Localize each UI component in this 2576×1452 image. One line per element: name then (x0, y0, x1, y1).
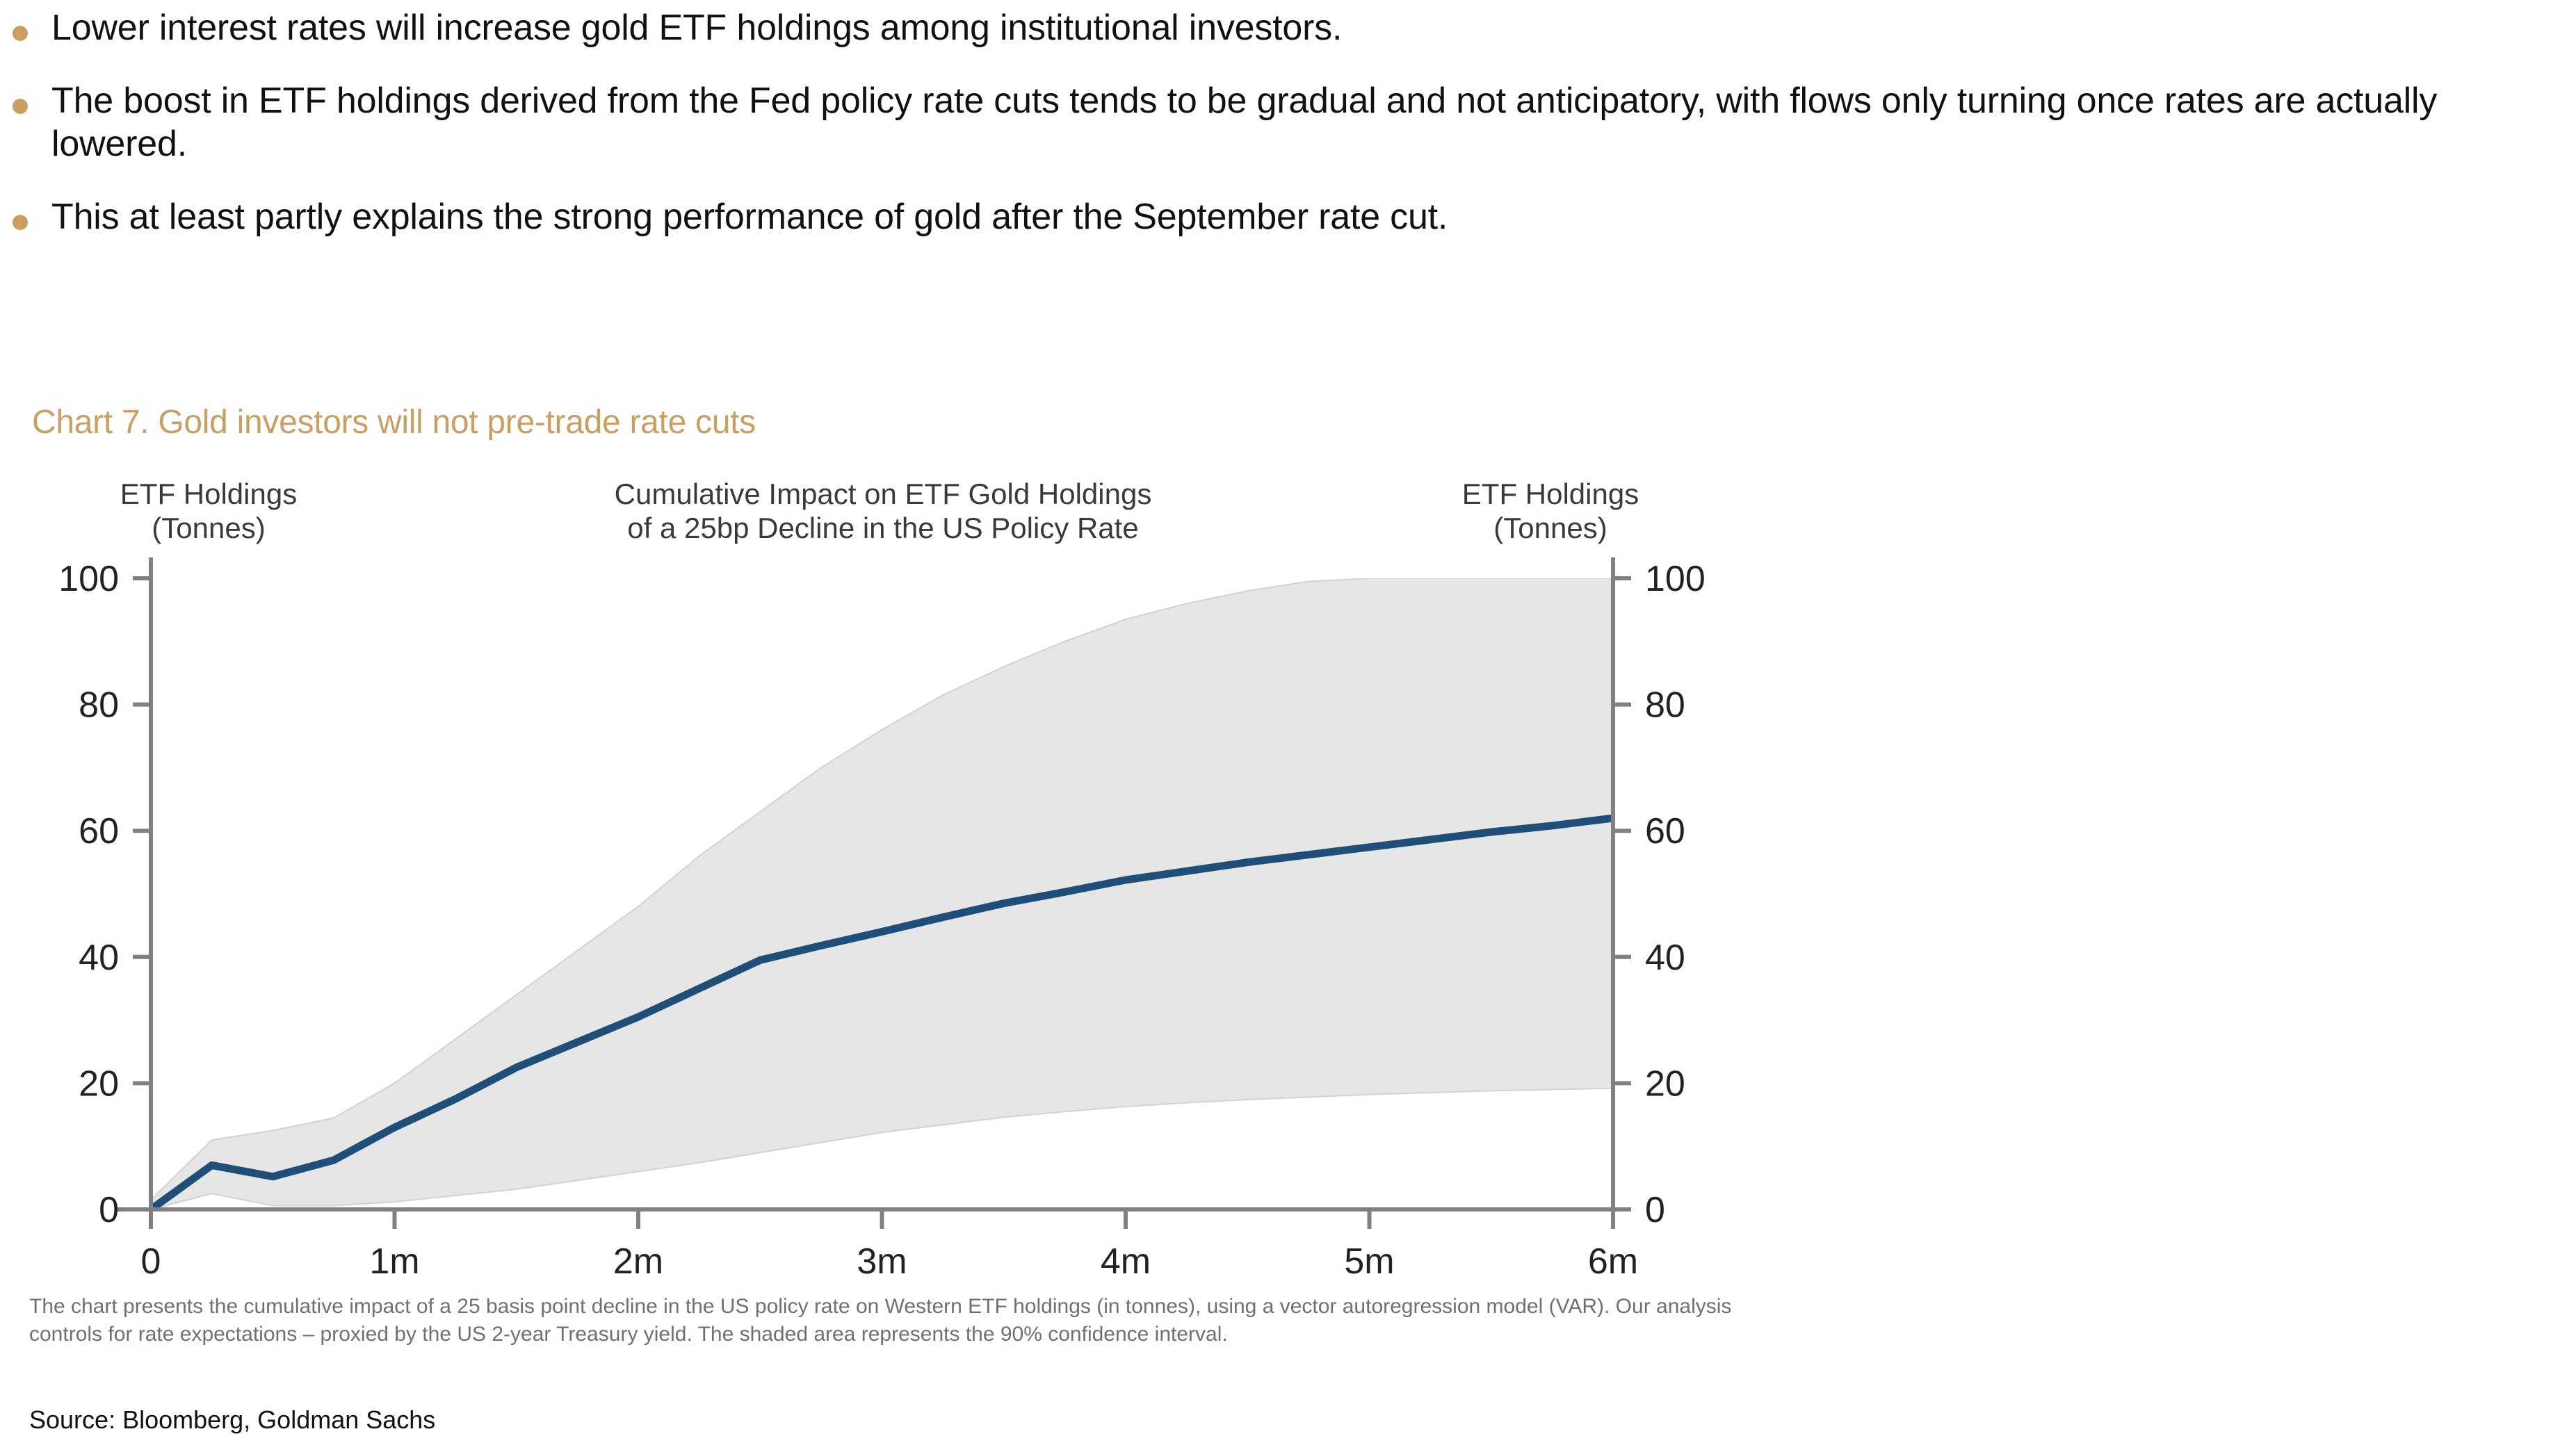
bullet-dot-icon (13, 215, 28, 230)
y-axis-tick-label: 60 (79, 811, 119, 851)
y-axis-tick-label: 100 (58, 559, 119, 599)
chart-container: ETF Holdings (Tonnes) Cumulative Impact … (0, 459, 1780, 1279)
bullet-list: Lower interest rates will increase gold … (13, 7, 2557, 269)
list-item: Lower interest rates will increase gold … (13, 7, 2557, 49)
right-y-axis-tick-label: 100 (1645, 559, 1706, 599)
y-axis-tick-label: 20 (79, 1063, 119, 1104)
y-axis-tick-label: 40 (79, 938, 119, 978)
right-y-axis-tick-label: 60 (1645, 811, 1685, 851)
bullet-text: Lower interest rates will increase gold … (51, 7, 1342, 49)
chart-title: Chart 7. Gold investors will not pre-tra… (32, 403, 756, 441)
x-axis-tick-label: 5m (1344, 1241, 1394, 1279)
y-axis-tick-label: 0 (99, 1190, 119, 1230)
right-y-axis-tick-label: 0 (1645, 1190, 1665, 1230)
x-axis-tick-label: 0 (141, 1241, 161, 1279)
x-axis-tick-label: 4m (1101, 1241, 1151, 1279)
chart-source: Source: Bloomberg, Goldman Sachs (29, 1405, 435, 1435)
list-item: This at least partly explains the strong… (13, 196, 2557, 238)
x-axis-tick-label: 2m (613, 1241, 663, 1279)
right-y-axis-tick-label: 40 (1645, 938, 1685, 978)
chart-footnote: The chart presents the cumulative impact… (29, 1293, 1753, 1348)
x-axis-tick-label: 6m (1588, 1241, 1638, 1279)
right-y-axis-tick-label: 20 (1645, 1063, 1685, 1104)
confidence-band (151, 578, 1613, 1209)
list-item: The boost in ETF holdings derived from t… (13, 80, 2557, 165)
right-y-axis-tick-label: 80 (1645, 685, 1685, 726)
bullet-dot-icon (13, 99, 28, 114)
y-axis-tick-label: 80 (79, 685, 119, 726)
x-axis-tick-label: 3m (857, 1241, 907, 1279)
chart-plot: 00202040406060808010010001m2m3m4m5m6m (0, 459, 1780, 1279)
bullet-text: The boost in ETF holdings derived from t… (51, 80, 2506, 165)
x-axis-tick-label: 1m (369, 1241, 419, 1279)
bullet-text: This at least partly explains the strong… (51, 196, 1448, 238)
bullet-dot-icon (13, 26, 28, 41)
